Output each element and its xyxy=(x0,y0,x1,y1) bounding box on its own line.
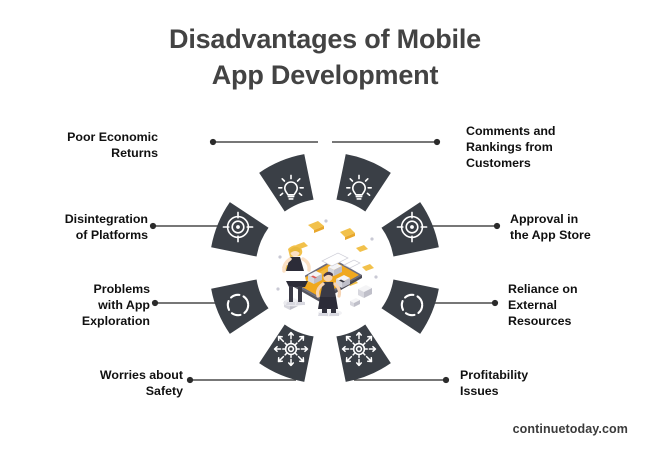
segment-worries-safety[interactable] xyxy=(258,321,321,384)
connector-dot-problems-exploration xyxy=(152,300,158,306)
label-reliance-external[interactable]: Reliance on External Resources xyxy=(508,282,648,330)
segmented-donut-wheel xyxy=(200,143,450,393)
segment-profitability-issues[interactable] xyxy=(328,321,391,384)
connector-dot-approval xyxy=(494,223,500,229)
label-comments-rankings[interactable]: Comments and Rankings from Customers xyxy=(466,124,636,172)
label-profitability-issues[interactable]: Profitability Issues xyxy=(460,368,610,400)
segment-problems-app-exploration[interactable] xyxy=(209,271,272,334)
label-disintegration-platforms[interactable]: Disintegration of Platforms xyxy=(0,212,148,244)
connector-dot-disintegration xyxy=(150,223,156,229)
segment-poor-economic-returns[interactable] xyxy=(258,152,321,215)
segment-reliance-external[interactable] xyxy=(378,271,441,334)
footer-site-label: continuetoday.com xyxy=(513,422,628,436)
infographic-canvas: Disadvantages of Mobile App Development xyxy=(0,0,650,450)
label-poor-economic-returns[interactable]: Poor Economic Returns xyxy=(8,130,158,162)
segment-comments-rankings[interactable] xyxy=(328,152,391,215)
label-worries-safety[interactable]: Worries about Safety xyxy=(23,368,183,400)
connector-dot-worries-safety xyxy=(187,377,193,383)
label-problems-app-exploration[interactable]: Problems with App Exploration xyxy=(0,282,150,330)
label-approval-app-store[interactable]: Approval in the App Store xyxy=(510,212,650,244)
connector-dot-reliance-external xyxy=(492,300,498,306)
